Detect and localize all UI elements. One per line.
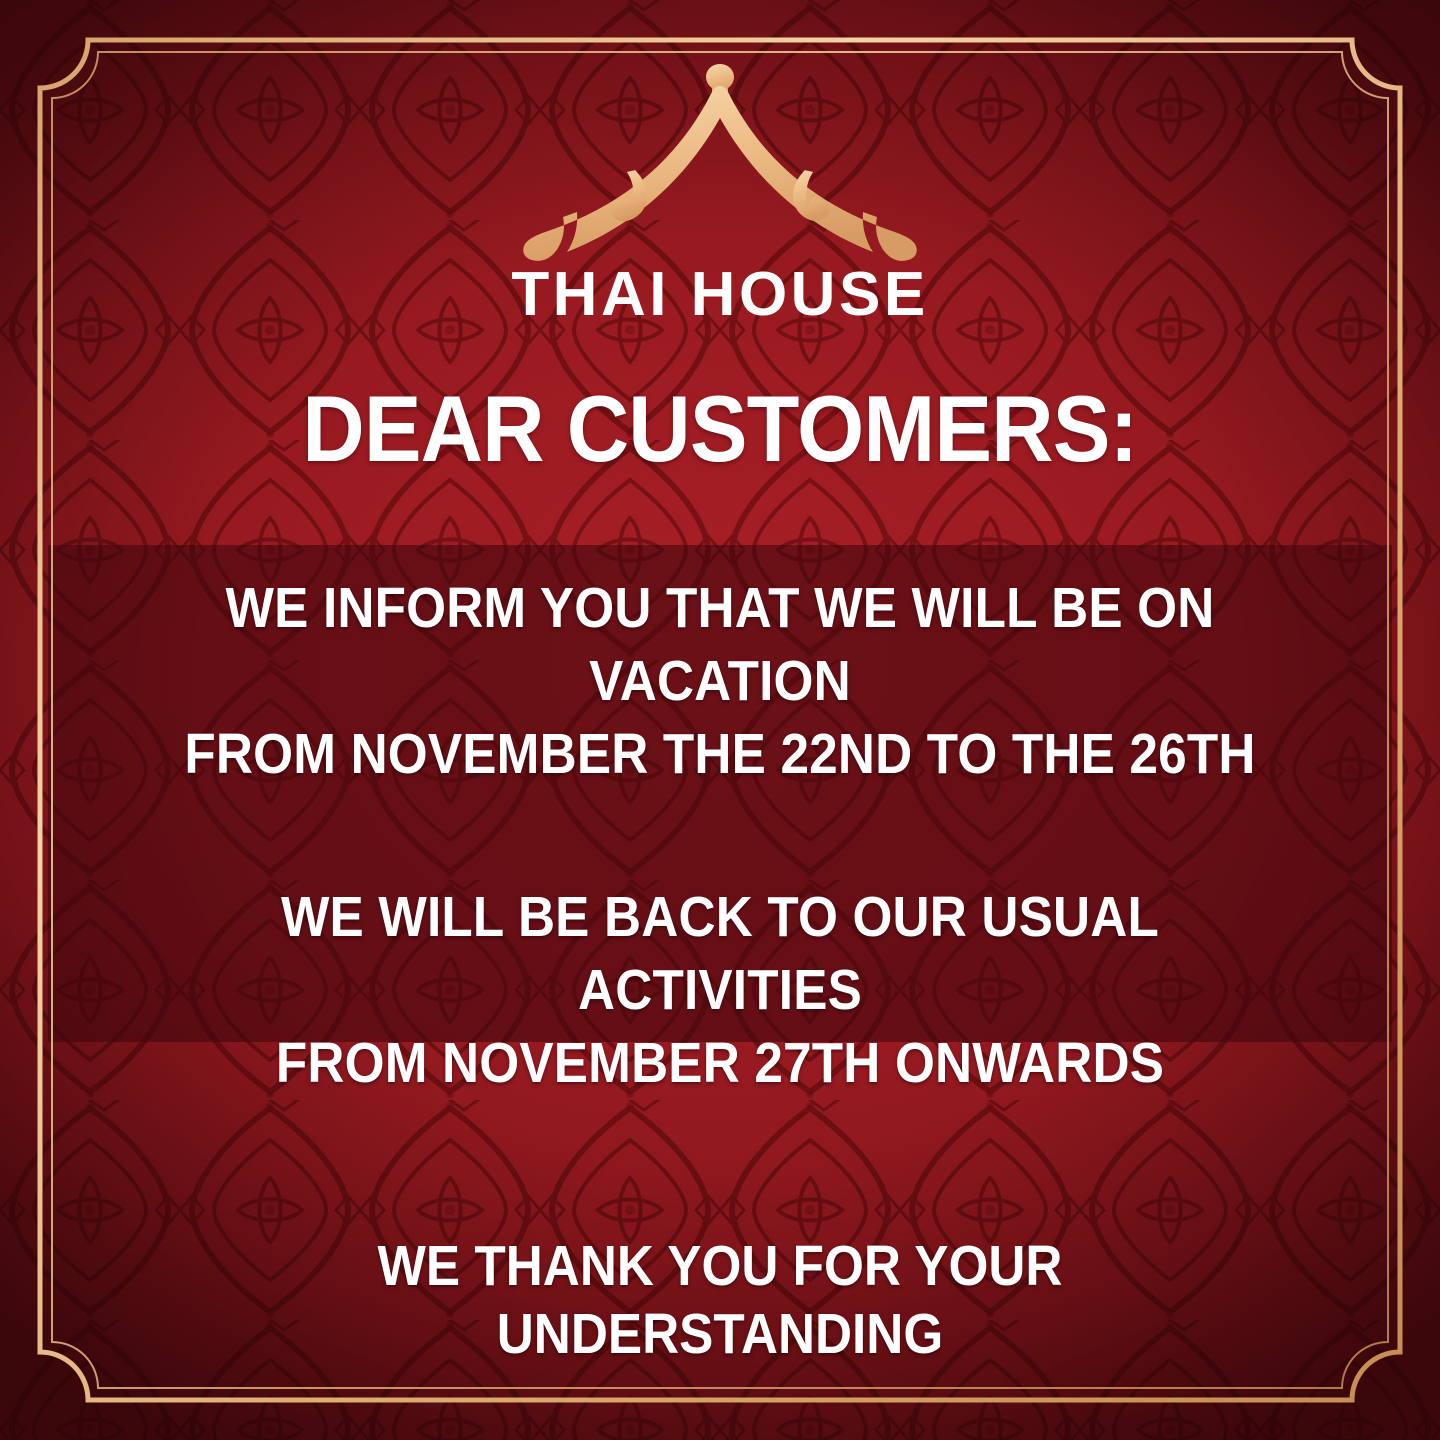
paragraph-vacation-dates: WE INFORM YOU THAT WE WILL BE ON VACATIO… <box>149 572 1292 791</box>
page-title: DEAR CUSTOMERS: <box>302 382 1137 476</box>
poster-content: THAI HOUSE DEAR CUSTOMERS: WE INFORM YOU… <box>0 0 1440 1440</box>
thai-temple-roof-icon <box>485 62 955 262</box>
message-line: WE WILL BE BACK TO OUR USUAL ACTIVITIES <box>149 881 1292 1027</box>
closing-message: WE THANK YOU FOR YOUR UNDERSTANDING <box>149 1232 1292 1369</box>
message-line: WE INFORM YOU THAT WE WILL BE ON VACATIO… <box>149 572 1292 718</box>
message-line: FROM NOVEMBER 27TH ONWARDS <box>149 1027 1292 1100</box>
message-line: FROM NOVEMBER THE 22ND TO THE 26TH <box>149 718 1292 791</box>
message-body: WE INFORM YOU THAT WE WILL BE ON VACATIO… <box>85 572 1355 1100</box>
paragraph-return-date: WE WILL BE BACK TO OUR USUAL ACTIVITIES … <box>149 881 1292 1100</box>
vacation-notice-poster: THAI HOUSE DEAR CUSTOMERS: WE INFORM YOU… <box>0 0 1440 1440</box>
brand-name: THAI HOUSE <box>511 264 928 326</box>
